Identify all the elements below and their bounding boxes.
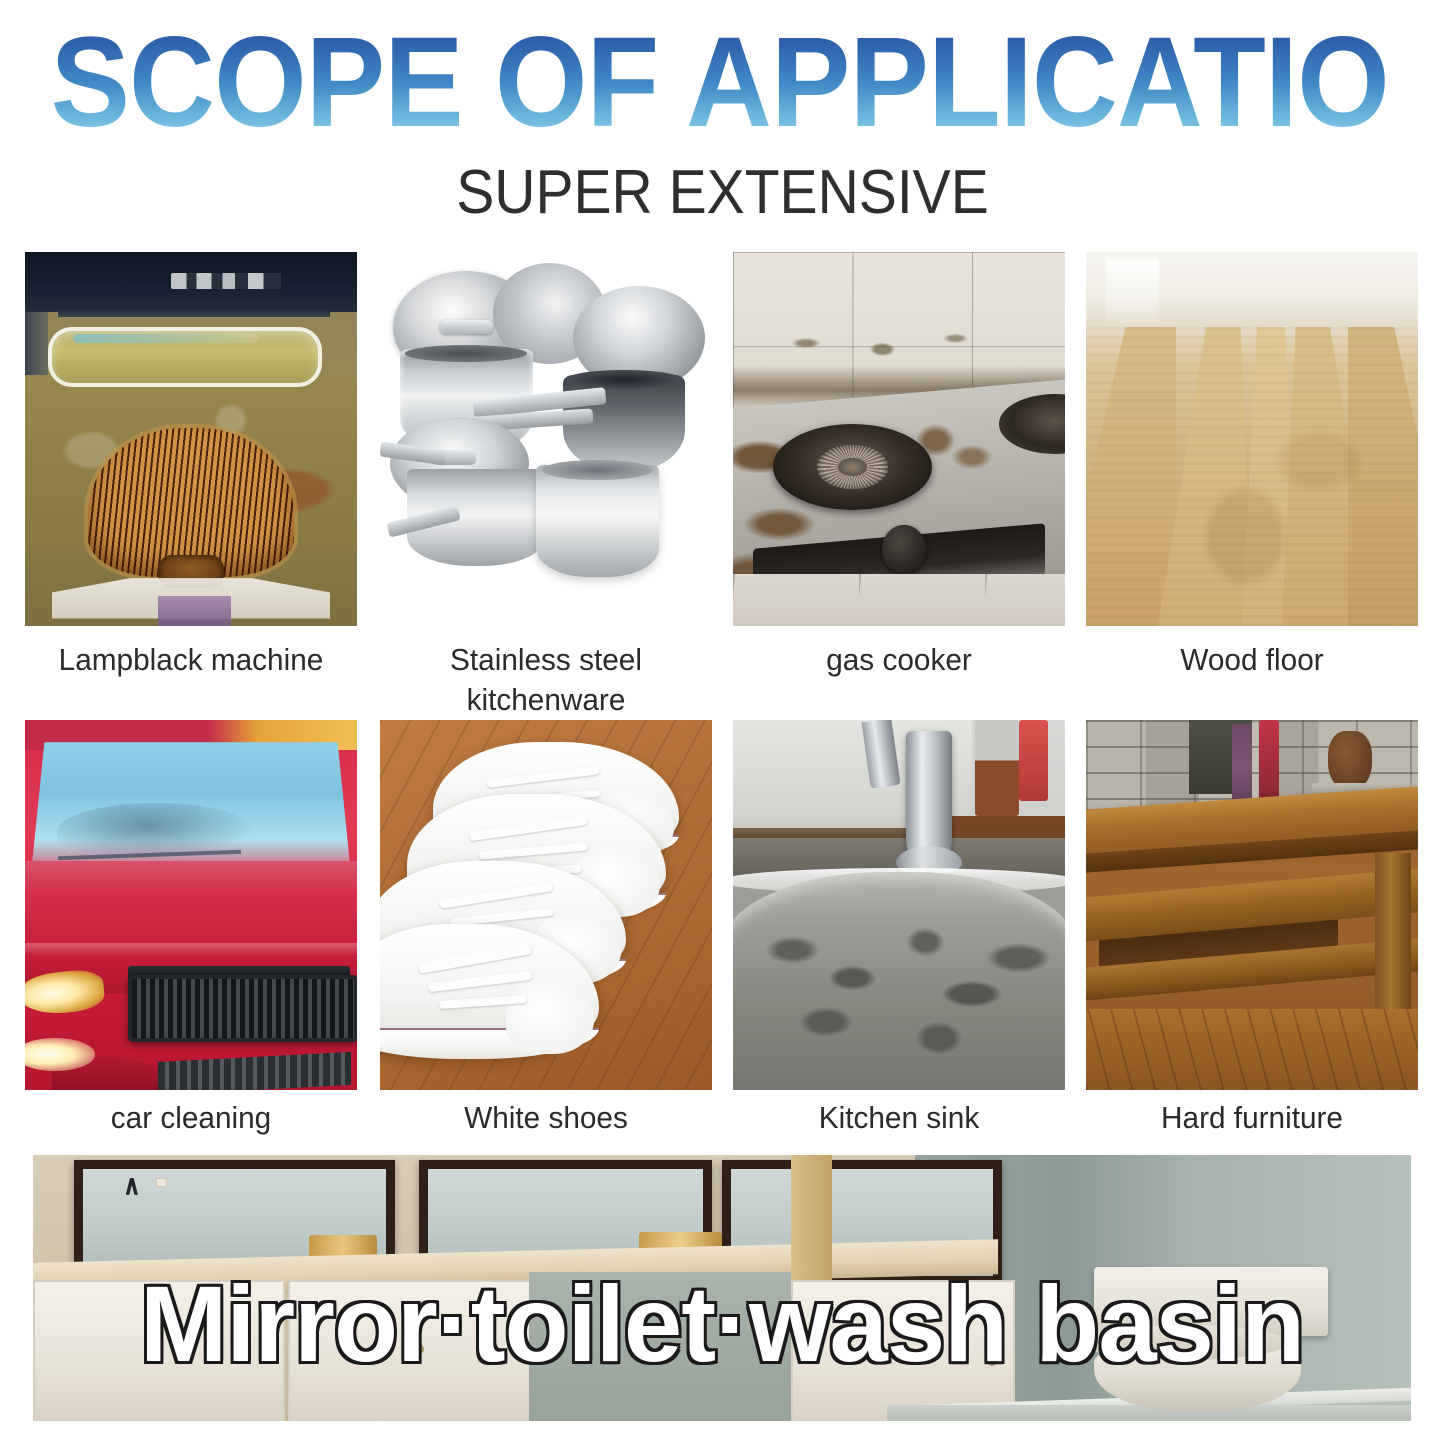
grid-cell-kitchen-sink[interactable]: [733, 720, 1065, 1090]
wood-grain: [1086, 327, 1418, 626]
red-bottle: [1019, 720, 1049, 801]
caption-lampblack-machine: Lampblack machine: [32, 640, 351, 680]
hood-control-knobs: [171, 273, 281, 290]
clay-jug: [1328, 731, 1371, 790]
caption-line: Kitchen sink: [819, 1100, 979, 1135]
bottom-banner[interactable]: Mirror·toilet·wash basin: [33, 1155, 1411, 1421]
shoelace: [487, 766, 600, 788]
grid-cell-hard-furniture[interactable]: [1086, 720, 1418, 1090]
hood-bottom-object: [158, 596, 231, 626]
hood-fan-blades: [88, 428, 294, 578]
caption-line: White shoes: [464, 1100, 628, 1135]
car-grille: [128, 975, 357, 1042]
shoelace: [418, 943, 532, 973]
stainless-steel-cookware-image: [380, 252, 712, 626]
caption-white-shoes: White shoes: [387, 1098, 706, 1138]
car-lower-grille: [158, 1052, 351, 1090]
caption-line: gas cooker: [826, 642, 972, 677]
caption-line: Hard furniture: [1161, 1100, 1343, 1135]
blurred-background: [1086, 252, 1418, 334]
sneaker-toecap: [506, 979, 594, 1054]
caption-line: Lampblack machine: [59, 642, 324, 677]
caption-gas-cooker: gas cooker: [740, 640, 1059, 680]
white-canvas-sneakers-image: [380, 720, 712, 1090]
banner-text: Mirror·toilet·wash basin: [54, 1261, 1391, 1386]
tripod-reflection: [126, 1178, 138, 1195]
caption-car-cleaning: car cleaning: [32, 1098, 351, 1138]
soap-bottle: [975, 720, 1018, 816]
car-windshield: [32, 742, 351, 868]
caption-line: Wood floor: [1180, 642, 1323, 677]
outlet-reflection: [156, 1178, 167, 1187]
page-title: SCOPE OF APPLICATION: [51, 18, 1395, 149]
page-subtitle: SUPER EXTENSIVE: [58, 157, 1387, 228]
hood-oil-tray: [48, 327, 322, 387]
caption-kitchen-sink: Kitchen sink: [740, 1098, 1059, 1138]
floor-tile: [733, 574, 1065, 626]
red-car-front-image: [25, 720, 357, 1090]
stove-control-knob: [882, 525, 925, 574]
infographic-page: SCOPE OF APPLICATION SUPER EXTENSIVE Lam…: [0, 0, 1445, 1445]
shoelace: [469, 816, 588, 841]
grid-cell-gas-cooker[interactable]: [733, 252, 1065, 626]
caption-line: car cleaning: [111, 1100, 271, 1135]
shoelace: [439, 882, 553, 909]
rustic-wood-table-image: [1086, 720, 1418, 1090]
dirty-gas-stove-image: [733, 252, 1065, 626]
burner-cap: [838, 458, 867, 475]
caption-stainless-steel-kitchenware: Stainless steel kitchenware: [387, 640, 706, 719]
caption-line: Stainless steel kitchenware: [450, 642, 642, 717]
range-hood-greasy-image: [25, 252, 357, 626]
grid-cell-stainless-steel-kitchenware[interactable]: [380, 252, 712, 626]
grid-cell-car-cleaning[interactable]: [25, 720, 357, 1090]
caption-wood-floor: Wood floor: [1093, 640, 1412, 680]
gas-burner-main: [773, 424, 932, 510]
hood-dark-band: [58, 306, 330, 317]
wooden-plank-floor-image: [1086, 252, 1418, 626]
caption-hard-furniture: Hard furniture: [1093, 1098, 1412, 1138]
dirty-kitchen-sink-image: [733, 720, 1065, 1090]
wood-floor: [1086, 1009, 1418, 1090]
saucepan-front: [536, 465, 659, 577]
grid-cell-lampblack-machine[interactable]: [25, 252, 357, 626]
grid-cell-wood-floor[interactable]: [1086, 252, 1418, 626]
sink-grime: [733, 890, 1065, 1090]
grid-cell-white-shoes[interactable]: [380, 720, 712, 1090]
shoelace: [479, 842, 588, 859]
